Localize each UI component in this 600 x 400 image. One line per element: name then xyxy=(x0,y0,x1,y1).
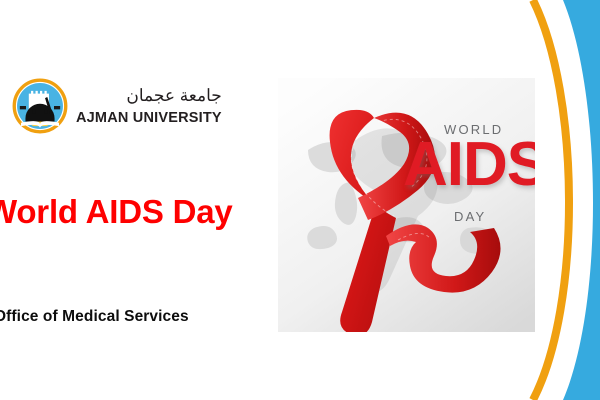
university-logo: جامعة عجمان AJMAN UNIVERSITY xyxy=(12,78,222,134)
logo-arabic-name: جامعة عجمان xyxy=(76,87,222,109)
red-ribbon-illustration xyxy=(278,78,535,332)
page-title: World AIDS Day xyxy=(0,193,233,231)
white-arc-gap xyxy=(537,0,593,400)
slide-canvas: جامعة عجمان AJMAN UNIVERSITY World AIDS … xyxy=(0,0,600,400)
blue-arc-shape xyxy=(555,0,600,400)
poster-word-aids: AIDS xyxy=(403,134,535,196)
world-aids-day-poster-image: WORLD AIDS DAY xyxy=(278,78,535,332)
poster-word-day: DAY xyxy=(454,209,486,224)
logo-english-name: AJMAN UNIVERSITY xyxy=(76,111,222,126)
orange-arc-shape xyxy=(533,0,569,400)
ajman-university-crest-icon xyxy=(12,78,68,134)
page-subtitle: Office of Medical Services xyxy=(0,308,189,326)
logo-wordmark: جامعة عجمان AJMAN UNIVERSITY xyxy=(76,87,222,126)
